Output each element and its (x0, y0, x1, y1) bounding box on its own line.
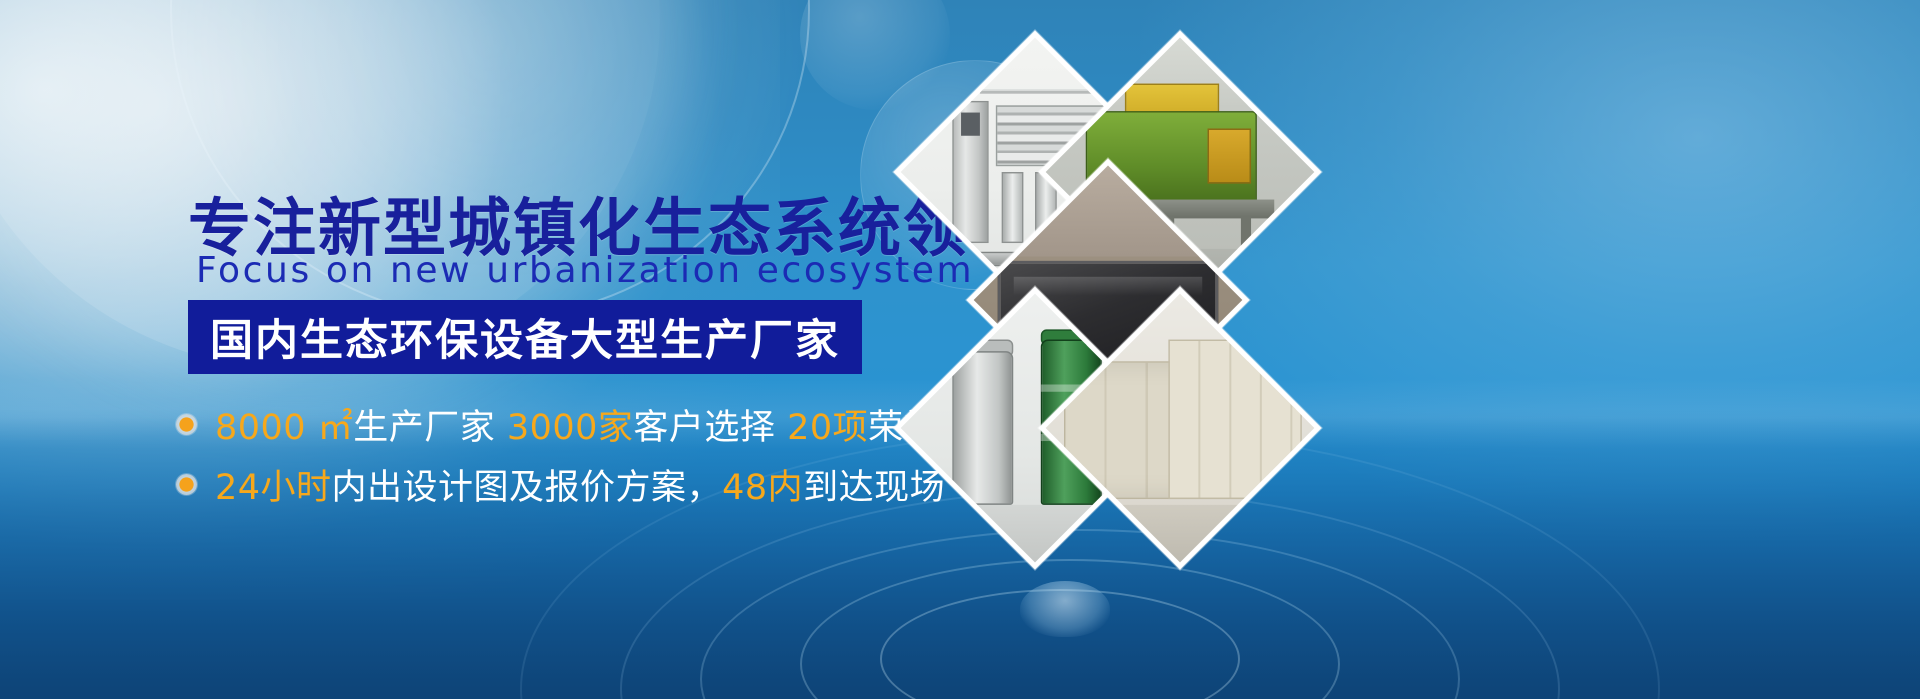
banner-bullet-list: 8000 ㎡生产厂家 3000家客户选择 20项荣誉证书 24小时内出设计图及报… (176, 398, 1010, 518)
banner-subheadline: Focus on new urbanization ecosystem (196, 250, 974, 291)
bullet-item: 24小时内出设计图及报价方案，48内到达现场 (176, 458, 1010, 510)
bullet-text: 8000 ㎡生产厂家 3000家客户选择 20项荣誉证书 (215, 399, 1010, 450)
diamond-photo-collage (905, 52, 1325, 522)
bullet-dot-icon (176, 474, 197, 495)
bullet-text: 24小时内出设计图及报价方案，48内到达现场 (215, 459, 945, 510)
bullet-item: 8000 ㎡生产厂家 3000家客户选择 20项荣誉证书 (176, 398, 1010, 450)
hero-banner: 专注新型城镇化生态系统领域 Focus on new urbanization … (0, 0, 1920, 699)
banner-text-content: 专注新型城镇化生态系统领域 Focus on new urbanization … (0, 0, 960, 699)
water-droplet-splash (1020, 581, 1110, 637)
banner-highlight-bar-text: 国内生态环保设备大型生产厂家 (210, 306, 840, 368)
bullet-dot-icon (176, 414, 197, 435)
banner-highlight-bar: 国内生态环保设备大型生产厂家 (188, 300, 862, 374)
